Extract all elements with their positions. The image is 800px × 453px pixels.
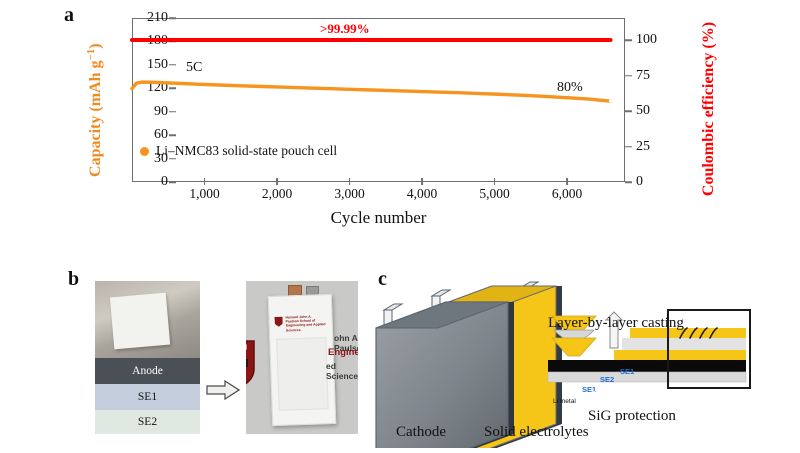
solid-electrolytes-label: Solid electrolytes [484, 424, 589, 441]
annotation-efficiency: >99.99% [320, 21, 370, 37]
panel-b-pouch-cell-photos: Anode SE1 SE2 Harvard John A. Paulson Sc… [60, 268, 360, 444]
series-plot [0, 0, 800, 240]
inset-label-li-metal: Li metal [553, 398, 576, 405]
layer-by-layer-casting-label: Layer-by-layer casting [548, 315, 684, 332]
pouch-active-area [276, 337, 328, 411]
inset-label-se1-top: SE1 [620, 367, 634, 376]
cell-schematic-svg [372, 268, 796, 448]
pouch-logo-text: Harvard John A. Paulson School of Engine… [285, 314, 326, 332]
process-arrow-icon [206, 380, 240, 400]
harvard-crest-icon [246, 339, 256, 391]
pouch-cell-photo: Harvard John A. Paulson School of Engine… [246, 281, 358, 434]
annotation-rate: 5C [186, 60, 202, 76]
electrolyte-sheet [110, 293, 170, 350]
background-text-line-3: ed Sciences [326, 361, 358, 381]
layer-anode: Anode [95, 358, 200, 384]
layer-stack-photo: Anode SE1 SE2 [95, 281, 200, 434]
layer-se2: SE2 [95, 410, 200, 434]
chart-legend: Li–NMC83 solid-state pouch cell [140, 143, 337, 159]
capacity-series [132, 82, 611, 101]
capacity-end-marker [609, 100, 612, 103]
x-axis-label: Cycle number [132, 208, 625, 228]
layer-se1: SE1 [95, 384, 200, 410]
legend-label: Li–NMC83 solid-state pouch cell [156, 143, 337, 159]
cathode-label: Cathode [396, 424, 446, 441]
panel-a-cycling-chart: a Capacity (mAh g−1) Coulombic efficienc… [0, 0, 800, 240]
legend-marker-icon [140, 147, 149, 156]
pouch-cell-body: Harvard John A. Paulson School of Engine… [268, 294, 336, 426]
free-standing-film-photo [95, 281, 200, 358]
background-text-line-2: Engineering [328, 347, 358, 358]
annotation-retention: 80% [557, 80, 583, 96]
sig-protection-label: SiG protection [588, 408, 676, 425]
panel-c-schematic [372, 268, 796, 448]
pouch-crest-icon [274, 317, 282, 327]
inset-label-se2: SE2 [600, 375, 614, 384]
inset-label-sig: SiG [591, 389, 604, 398]
